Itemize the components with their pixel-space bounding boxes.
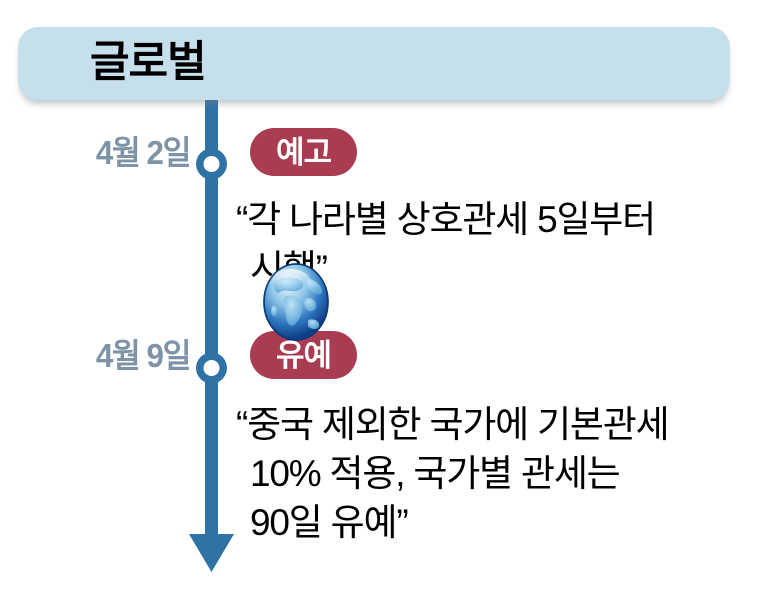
page-title: 글로벌 xyxy=(90,41,206,84)
timeline-quote-2: “중국 제외한 국가에 기본관세 10% 적용, 국가별 관세는 90일 유예” xyxy=(236,401,746,547)
timeline-date-1: 4월 2일 xyxy=(10,136,191,169)
timeline-node-1 xyxy=(196,149,227,180)
timeline-arrow-head xyxy=(189,534,234,572)
timeline-badge-1: 예고 xyxy=(250,128,357,176)
timeline-date-2: 4월 9일 xyxy=(10,339,191,372)
timeline-node-2 xyxy=(196,353,227,384)
timeline-line xyxy=(205,90,218,542)
header-bar: 글로벌 xyxy=(18,27,730,100)
globe-icon xyxy=(260,262,332,342)
